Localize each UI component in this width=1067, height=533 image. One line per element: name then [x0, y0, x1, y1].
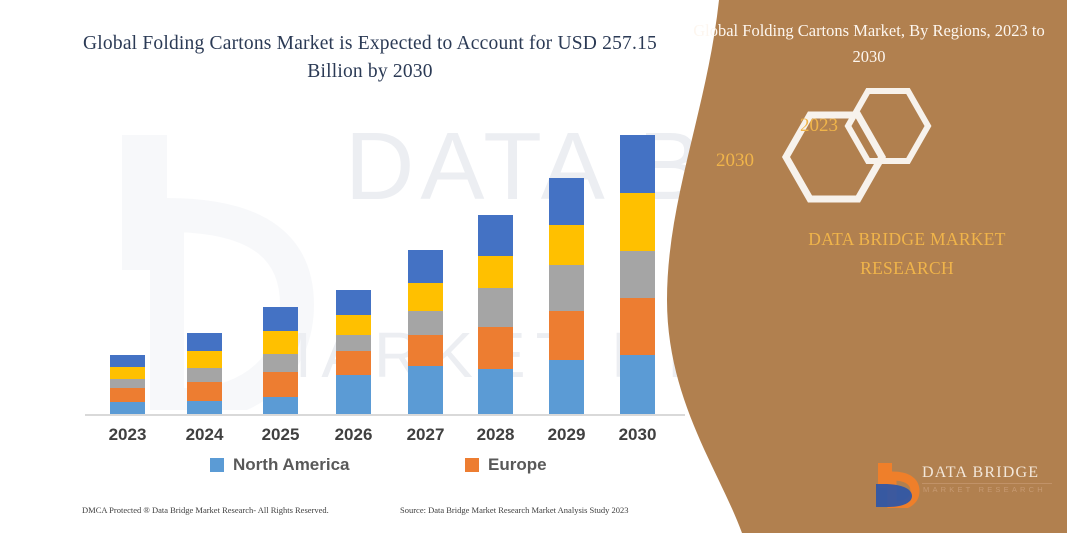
- bar-segment-2029-north-america: [549, 360, 584, 415]
- bar-segment-2028-north-america: [478, 369, 513, 415]
- bar-segment-2029-series-3: [549, 265, 584, 311]
- bar-segment-2030-series-4: [620, 193, 655, 251]
- bar-segment-2027-europe: [408, 335, 443, 366]
- bar-segment-2030-north-america: [620, 355, 655, 415]
- x-tick-2030: 2030: [603, 425, 673, 445]
- chart-legend: North AmericaEurope: [85, 455, 685, 481]
- logo-mark-icon: [870, 458, 920, 508]
- chart-panel: Global Folding Cartons Market is Expecte…: [0, 0, 760, 533]
- bar-segment-2028-series-3: [478, 288, 513, 327]
- infographic-canvas: DATA BRIDGE MARKET RESEARCH Global Foldi…: [0, 0, 1067, 533]
- bar-segment-2026-series-3: [336, 335, 371, 351]
- bar-segment-2025-series-4: [263, 331, 298, 354]
- hexagon-2023-label: 2023: [779, 115, 859, 137]
- x-tick-2024: 2024: [170, 425, 240, 445]
- footer-source: Source: Data Bridge Market Research Mark…: [400, 505, 629, 515]
- bar-segment-2028-europe: [478, 327, 513, 369]
- brand-panel: Global Folding Cartons Market, By Region…: [667, 0, 1067, 533]
- bar-segment-2029-series-4: [549, 225, 584, 265]
- hexagon-group: [772, 85, 1002, 210]
- x-axis-tick-labels: 20232024202520262027202820292030: [85, 425, 685, 453]
- legend-label: North America: [233, 455, 350, 475]
- bar-segment-2023-europe: [110, 388, 145, 402]
- bar-column-2028: [478, 215, 513, 415]
- brand-name: DATA BRIDGE MARKET RESEARCH: [787, 225, 1027, 283]
- logo-divider: [922, 483, 1052, 484]
- x-tick-2027: 2027: [391, 425, 461, 445]
- bar-segment-2024-series-3: [187, 368, 222, 382]
- chart-plot-area: [85, 120, 685, 415]
- bar-segment-2029-series-5: [549, 178, 584, 225]
- bar-segment-2023-series-3: [110, 379, 145, 388]
- x-tick-2025: 2025: [246, 425, 316, 445]
- bar-segment-2023-series-5: [110, 355, 145, 367]
- legend-item-europe[interactable]: Europe: [465, 455, 547, 475]
- bar-column-2024: [187, 333, 222, 415]
- legend-swatch-icon: [465, 458, 479, 472]
- legend-label: Europe: [488, 455, 547, 475]
- bar-column-2029: [549, 178, 584, 415]
- bar-segment-2030-europe: [620, 298, 655, 355]
- bar-segment-2027-series-4: [408, 283, 443, 311]
- x-axis-line: [85, 414, 685, 416]
- bar-column-2023: [110, 355, 145, 415]
- bar-column-2027: [408, 250, 443, 415]
- bar-segment-2027-series-5: [408, 250, 443, 283]
- x-tick-2029: 2029: [532, 425, 602, 445]
- bar-segment-2023-series-4: [110, 367, 145, 379]
- bar-segment-2025-europe: [263, 372, 298, 397]
- company-logo: DATA BRIDGE MARKET RESEARCH: [870, 458, 1060, 510]
- x-tick-2023: 2023: [93, 425, 163, 445]
- legend-swatch-icon: [210, 458, 224, 472]
- bar-segment-2024-north-america: [187, 401, 222, 415]
- bar-segment-2026-series-4: [336, 315, 371, 335]
- hexagon-icons: [772, 85, 1002, 210]
- bar-column-2026: [336, 290, 371, 415]
- bar-segment-2025-series-5: [263, 307, 298, 331]
- x-tick-2026: 2026: [319, 425, 389, 445]
- brand-panel-content: Global Folding Cartons Market, By Region…: [667, 0, 1067, 533]
- bar-segment-2030-series-3: [620, 251, 655, 298]
- brand-name-line2: RESEARCH: [787, 254, 1027, 283]
- legend-item-north-america[interactable]: North America: [210, 455, 350, 475]
- bar-segment-2028-series-4: [478, 256, 513, 288]
- brand-name-line1: DATA BRIDGE MARKET: [787, 225, 1027, 254]
- hexagon-2023-icon: [848, 91, 928, 161]
- bar-segment-2024-series-4: [187, 351, 222, 368]
- page-title: Global Folding Cartons Market is Expecte…: [60, 30, 680, 86]
- bar-column-2025: [263, 307, 298, 415]
- logo-tagline: MARKET RESEARCH: [923, 485, 1046, 494]
- bar-segment-2028-series-5: [478, 215, 513, 256]
- bar-segment-2027-north-america: [408, 366, 443, 415]
- brand-panel-title: Global Folding Cartons Market, By Region…: [689, 18, 1049, 70]
- logo-name: DATA BRIDGE: [922, 464, 1039, 482]
- footer: DMCA Protected ® Data Bridge Market Rese…: [0, 505, 760, 529]
- bar-segment-2025-series-3: [263, 354, 298, 372]
- bar-segment-2026-europe: [336, 351, 371, 375]
- bar-column-2030: [620, 135, 655, 415]
- bar-segment-2026-series-5: [336, 290, 371, 315]
- bar-segment-2026-north-america: [336, 375, 371, 415]
- bar-segment-2025-north-america: [263, 397, 298, 415]
- hexagon-2030-label: 2030: [695, 150, 775, 172]
- bar-segment-2024-europe: [187, 382, 222, 401]
- bar-segment-2024-series-5: [187, 333, 222, 351]
- bar-segment-2027-series-3: [408, 311, 443, 335]
- x-tick-2028: 2028: [461, 425, 531, 445]
- footer-copyright: DMCA Protected ® Data Bridge Market Rese…: [82, 505, 329, 515]
- bar-segment-2030-series-5: [620, 135, 655, 193]
- bar-segment-2029-europe: [549, 311, 584, 360]
